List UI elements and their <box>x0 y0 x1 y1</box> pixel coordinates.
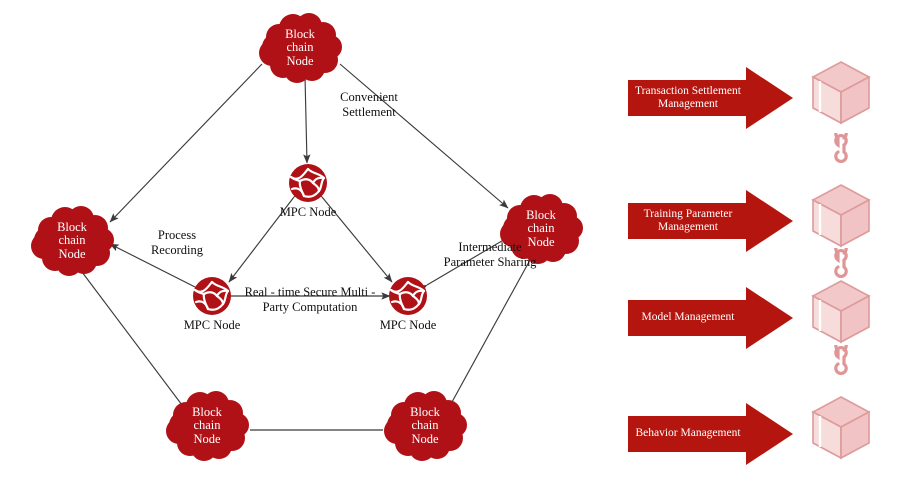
chain-link-icon <box>828 133 854 172</box>
diagram-canvas: Block chain Node Block chain Node <box>0 0 900 486</box>
cloud-shape <box>257 13 343 83</box>
edge-label-secure-mpc: Real - time Secure Multi - Party Computa… <box>245 285 376 315</box>
edge-label-line2: Recording <box>151 243 203 258</box>
edge-right-to-bottomright <box>452 260 530 402</box>
mpc-sphere-icon <box>192 276 232 316</box>
chain-link-icon <box>828 345 854 384</box>
arrow-banner-shape <box>628 287 793 349</box>
block-cube-icon[interactable] <box>810 395 872 468</box>
edge-top-to-left <box>110 64 262 222</box>
edge-label-line1: Convenient <box>340 90 398 105</box>
edge-label-line2: Parameter Sharing <box>444 255 537 270</box>
block-cube-icon[interactable] <box>810 183 872 256</box>
management-banner[interactable]: Model Management <box>628 287 793 349</box>
edge-top-to-mpctop <box>305 76 307 163</box>
mpc-node-label: MPC Node <box>184 318 241 333</box>
edge-label-line2: Party Computation <box>245 300 376 315</box>
block-cube-icon[interactable] <box>810 60 872 133</box>
mpc-sphere-icon <box>288 163 328 203</box>
blockchain-node[interactable]: Block chain Node <box>257 13 343 83</box>
edge-label-line2: Settlement <box>340 105 398 120</box>
edge-label-process-recording: Process Recording <box>151 228 203 258</box>
edge-label-convenient-settlement: Convenient Settlement <box>340 90 398 120</box>
cloud-shape <box>382 391 468 461</box>
cloud-shape <box>29 206 115 276</box>
arrow-banner-shape <box>628 190 793 252</box>
edge-label-line1: Process <box>151 228 203 243</box>
management-banner[interactable]: Training Parameter Management <box>628 190 793 252</box>
mpc-node-label: MPC Node <box>380 318 437 333</box>
cloud-shape <box>164 391 250 461</box>
management-banner[interactable]: Behavior Management <box>628 403 793 465</box>
edge-left-to-bottomleft <box>82 272 182 405</box>
management-banner[interactable]: Transaction Settlement Management <box>628 67 793 129</box>
edge-label-intermediate-parameter-sharing: Intermediate Parameter Sharing <box>444 240 537 270</box>
management-panel: Transaction Settlement Management <box>628 0 900 486</box>
edge-top-to-right <box>340 64 508 208</box>
blockchain-node[interactable]: Block chain Node <box>382 391 468 461</box>
edge-label-line1: Real - time Secure Multi - <box>245 285 376 300</box>
arrow-banner-shape <box>628 403 793 465</box>
arrow-banner-shape <box>628 67 793 129</box>
mpc-sphere-icon <box>388 276 428 316</box>
mpc-node[interactable] <box>288 163 328 203</box>
blockchain-node[interactable]: Block chain Node <box>29 206 115 276</box>
mpc-node-label: MPC Node <box>280 205 337 220</box>
mpc-node[interactable] <box>192 276 232 316</box>
blockchain-node[interactable]: Block chain Node <box>164 391 250 461</box>
mpc-node[interactable] <box>388 276 428 316</box>
block-cube-icon[interactable] <box>810 279 872 352</box>
edge-label-line1: Intermediate <box>444 240 537 255</box>
